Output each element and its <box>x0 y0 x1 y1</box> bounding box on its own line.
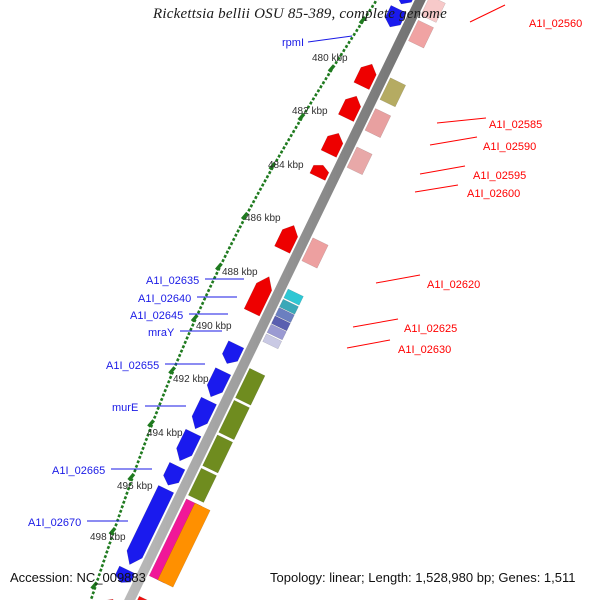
axis-minor-tick <box>233 238 234 241</box>
axis-minor-tick <box>122 505 123 508</box>
axis-minor-tick <box>142 447 143 450</box>
axis-minor-tick <box>105 555 106 558</box>
axis-minor-tick <box>222 259 223 262</box>
axis-tick-label: 496 kbp <box>117 481 153 492</box>
axis-minor-tick <box>227 251 228 254</box>
axis-minor-tick <box>343 49 344 52</box>
axis-minor-tick <box>253 200 254 203</box>
axis-minor-tick <box>235 234 236 237</box>
axis-minor-tick <box>141 452 142 455</box>
axis-minor-tick <box>204 298 205 301</box>
axis-minor-tick <box>279 155 280 158</box>
axis-minor-tick <box>328 73 329 76</box>
axis-minor-tick <box>269 171 270 174</box>
axis-tick-label: 480 kbp <box>312 53 348 64</box>
gene-label-a1i_02595[interactable]: A1I_02595 <box>473 170 526 182</box>
axis-minor-tick <box>231 242 232 245</box>
axis-minor-tick <box>346 45 347 48</box>
axis-minor-tick <box>192 324 193 327</box>
axis-tick-label: 488 kbp <box>222 267 258 278</box>
axis-minor-tick <box>202 302 203 305</box>
leader-line-a1i_02620 <box>376 275 420 283</box>
axis-tick-label: 482 kbp <box>292 106 328 117</box>
leader-line-a1i_02625 <box>353 319 398 327</box>
axis-minor-tick <box>108 546 109 549</box>
axis-minor-tick <box>136 465 137 468</box>
axis-minor-tick <box>318 90 319 93</box>
accession-text: Accession: NC_009883 <box>10 570 146 585</box>
axis-minor-tick <box>210 285 211 288</box>
axis-minor-tick <box>216 272 217 275</box>
genome-map-svg[interactable] <box>0 0 600 600</box>
gene-label-a1i_02600[interactable]: A1I_02600 <box>467 188 520 200</box>
axis-minor-tick <box>356 29 357 32</box>
axis-minor-tick <box>237 230 238 233</box>
axis-minor-tick <box>295 126 296 129</box>
axis-minor-tick <box>375 1 376 4</box>
axis-minor-tick <box>120 510 121 513</box>
gene-label-a1i_02640[interactable]: A1I_02640 <box>138 293 191 305</box>
axis-minor-tick <box>351 37 352 40</box>
axis-minor-tick <box>185 341 186 344</box>
axis-minor-tick <box>125 496 126 499</box>
axis-minor-tick <box>115 524 116 527</box>
axis-minor-tick <box>348 41 349 44</box>
genome-stats-text: Topology: linear; Length: 1,528,980 bp; … <box>270 570 576 585</box>
axis-minor-tick <box>330 69 331 72</box>
gene-label-mure[interactable]: murE <box>112 402 138 414</box>
axis-minor-tick <box>258 192 259 195</box>
gene-label-a1i_02620[interactable]: A1I_02620 <box>427 279 480 291</box>
axis-tick-label: 494 kbp <box>147 428 183 439</box>
axis-minor-tick <box>300 118 301 121</box>
gene-inner-6[interactable] <box>310 165 329 180</box>
axis-minor-tick <box>168 381 169 384</box>
axis-minor-tick <box>123 501 124 504</box>
axis-minor-tick <box>298 122 299 125</box>
gene-label-a1i_02655[interactable]: A1I_02655 <box>106 360 159 372</box>
axis-minor-tick <box>310 102 311 105</box>
axis-minor-tick <box>144 443 145 446</box>
axis-tick-label: 486 kbp <box>245 213 281 224</box>
leader-line-a1i_02600 <box>415 185 458 192</box>
axis-minor-tick <box>293 130 294 133</box>
gene-label-a1i_02625[interactable]: A1I_02625 <box>404 323 457 335</box>
axis-minor-tick <box>281 151 282 154</box>
axis-tick-marks <box>90 0 400 600</box>
axis-minor-tick <box>260 188 261 191</box>
gene-inner-3[interactable] <box>354 64 377 90</box>
axis-minor-tick <box>156 411 157 414</box>
axis-minor-tick <box>315 94 316 97</box>
gene-label-a1i_02630[interactable]: A1I_02630 <box>398 344 451 356</box>
axis-minor-tick <box>206 294 207 297</box>
axis-minor-tick <box>198 311 199 314</box>
page-title: Rickettsia bellii OSU 85-389, complete g… <box>0 6 600 23</box>
axis-minor-tick <box>291 134 292 137</box>
gene-label-a1i_02635[interactable]: A1I_02635 <box>146 275 199 287</box>
gene-label-rpmi[interactable]: rpmI <box>282 37 304 49</box>
axis-minor-tick <box>183 345 184 348</box>
axis-minor-tick <box>161 398 162 401</box>
leader-line-a1i_02595 <box>420 166 465 174</box>
axis-minor-tick <box>208 289 209 292</box>
axis-minor-tick <box>262 184 263 187</box>
axis-minor-tick <box>151 425 152 428</box>
axis-minor-tick <box>218 268 219 271</box>
axis-minor-tick <box>286 142 287 145</box>
axis-minor-tick <box>166 385 167 388</box>
gene-label-a1i_02590[interactable]: A1I_02590 <box>483 141 536 153</box>
axis-minor-tick <box>323 81 324 84</box>
axis-minor-tick <box>181 350 182 353</box>
genome-map-canvas[interactable]: Rickettsia bellii OSU 85-389, complete g… <box>0 0 600 600</box>
leader-line-rpmi <box>308 36 352 42</box>
axis-minor-tick <box>106 551 107 554</box>
axis-minor-tick <box>139 456 140 459</box>
axis-minor-tick <box>91 596 92 599</box>
axis-minor-tick <box>264 180 265 183</box>
leader-line-a1i_02585 <box>437 118 486 123</box>
leader-line-a1i_02630 <box>347 340 390 348</box>
axis-minor-tick <box>240 226 241 229</box>
axis-tick-label: 484 kbp <box>268 160 304 171</box>
axis-minor-tick <box>159 403 160 406</box>
axis-minor-tick <box>313 98 314 101</box>
axis-minor-tick <box>154 416 155 419</box>
axis-minor-tick <box>186 337 187 340</box>
axis-minor-tick <box>94 587 95 590</box>
gene-label-a1i_02665[interactable]: A1I_02665 <box>52 465 105 477</box>
axis-minor-tick <box>242 221 243 224</box>
gene-inner-5[interactable] <box>321 133 343 157</box>
axis-minor-tick <box>163 394 164 397</box>
gene-label-a1i_02560[interactable]: A1I_02560 <box>529 18 582 30</box>
axis-minor-tick <box>103 560 104 563</box>
axis-minor-tick <box>325 77 326 80</box>
axis-minor-tick <box>138 461 139 464</box>
axis-minor-tick <box>119 515 120 518</box>
gene-label-mray[interactable]: mraY <box>148 327 174 339</box>
axis-minor-tick <box>134 469 135 472</box>
axis-minor-tick <box>165 389 166 392</box>
axis-minor-tick <box>170 376 171 379</box>
axis-minor-tick <box>179 354 180 357</box>
axis-minor-tick <box>267 175 268 178</box>
axis-minor-tick <box>188 332 189 335</box>
axis-minor-tick <box>251 205 252 208</box>
axis-tick-label: 490 kbp <box>196 321 232 332</box>
axis-minor-tick <box>200 306 201 309</box>
axis-minor-tick <box>190 328 191 331</box>
axis-minor-tick <box>255 196 256 199</box>
gene-label-a1i_02645[interactable]: A1I_02645 <box>130 310 183 322</box>
axis-minor-tick <box>283 147 284 150</box>
axis-tick-label: 498 kbp <box>90 532 126 543</box>
axis-minor-tick <box>248 209 249 212</box>
axis-tick-label: 492 kbp <box>173 374 209 385</box>
axis-minor-tick <box>229 247 230 250</box>
gene-label-a1i_02670[interactable]: A1I_02670 <box>28 517 81 529</box>
axis-minor-tick <box>102 564 103 567</box>
axis-minor-tick <box>320 85 321 88</box>
leader-line-a1i_02590 <box>430 137 477 145</box>
gene-label-a1i_02585[interactable]: A1I_02585 <box>489 119 542 131</box>
axis-minor-tick <box>158 407 159 410</box>
axis-minor-tick <box>359 25 360 28</box>
axis-minor-tick <box>177 359 178 362</box>
axis-minor-tick <box>225 255 226 258</box>
axis-minor-tick <box>212 281 213 284</box>
axis-minor-tick <box>288 138 289 141</box>
axis-minor-tick <box>126 492 127 495</box>
gene-inner-4[interactable] <box>338 96 361 122</box>
axis-minor-tick <box>354 33 355 36</box>
axis-minor-tick <box>93 592 94 595</box>
